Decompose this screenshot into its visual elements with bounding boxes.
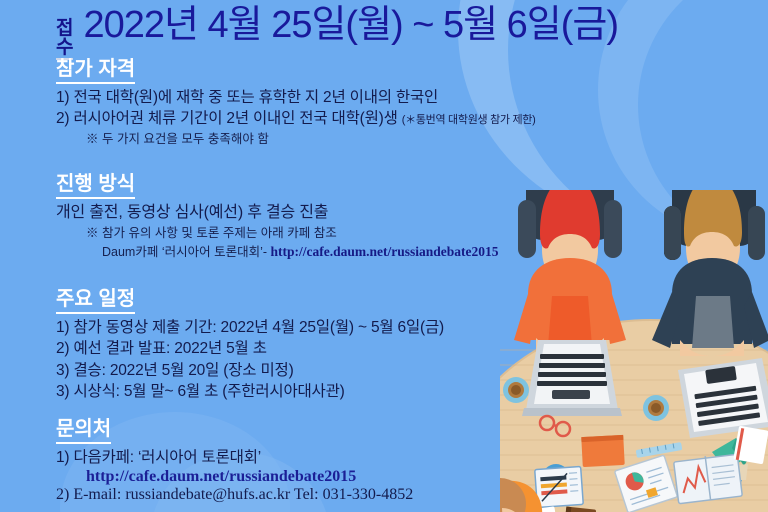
- schedule-line-4: 3) 시상식: 5월 말~ 6월 초 (주한러시아대사관): [56, 381, 444, 402]
- section-heading-method: 진행 방식: [56, 173, 135, 199]
- method-cafe-url[interactable]: http://cafe.daum.net/russiandebate2015: [271, 244, 499, 259]
- section-heading-schedule: 주요 일정: [56, 288, 135, 314]
- poster-content: 접수 2022년 4월 25일(월) ~ 5월 6일(금) 참가 자격 1) 전…: [0, 0, 560, 63]
- desk-meeting-illustration: BUSINESS: [500, 190, 768, 512]
- section-qualification: 참가 자격 1) 전국 대학(원)에 재학 중 또는 휴학한 지 2년 이내의 …: [0, 58, 536, 148]
- qualification-note: ※ 두 가지 요건을 모두 충족해야 함: [56, 130, 536, 148]
- method-cafe-label: Daum카페 ‘러시아어 토론대회’-: [102, 245, 267, 259]
- contact-cafe-url[interactable]: http://cafe.daum.net/russiandebate2015: [86, 468, 356, 485]
- qualification-line-2-wrap: 2) 러시아어권 체류 기간이 2년 이내인 전국 대학(원)생 (＊통번역 대…: [56, 108, 536, 129]
- poster-canvas: BUSINESS: [0, 0, 768, 512]
- schedule-line-2: 2) 예선 결과 발표: 2022년 5월 초: [56, 338, 444, 359]
- method-line-1: 개인 출전, 동영상 심사(예선) 후 결승 진출: [56, 202, 499, 224]
- page-title: 2022년 4월 25일(월) ~ 5월 6일(금): [83, 6, 618, 46]
- contact-url-row: http://cafe.daum.net/russiandebate2015: [56, 468, 413, 486]
- section-heading-contact: 문의처: [56, 418, 111, 444]
- contact-email-line: 2) E-mail: russiandebate@hufs.ac.kr Tel:…: [56, 486, 413, 504]
- schedule-line-3: 3) 결승: 2022년 5월 20일 (장소 미정): [56, 360, 444, 381]
- qualification-line-1: 1) 전국 대학(원)에 재학 중 또는 휴학한 지 2년 이내의 한국인: [56, 87, 536, 108]
- qualification-line-2: 2) 러시아어권 체류 기간이 2년 이내인 전국 대학(원)생: [56, 110, 398, 127]
- section-method: 진행 방식 개인 출전, 동영상 심사(예선) 후 결승 진출 ※ 참가 유의 …: [0, 173, 499, 262]
- registration-badge: 접수: [56, 19, 73, 60]
- qualification-inline-note: (＊통번역 대학원생 참가 제한): [402, 114, 536, 126]
- method-cafe-row: Daum카페 ‘러시아어 토론대회’- http://cafe.daum.net…: [56, 242, 499, 262]
- method-note: ※ 참가 유의 사항 및 토론 주제는 아래 카페 참조: [56, 224, 499, 242]
- section-schedule: 주요 일정 1) 참가 동영상 제출 기간: 2022년 4월 25일(월) ~…: [0, 288, 444, 403]
- section-heading-qualification: 참가 자격: [56, 58, 135, 84]
- section-contact: 문의처 1) 다음카페: ‘러시아어 토론대회’ http://cafe.dau…: [0, 418, 413, 504]
- schedule-line-1: 1) 참가 동영상 제출 기간: 2022년 4월 25일(월) ~ 5월 6일…: [56, 317, 444, 338]
- poster-header: 접수 2022년 4월 25일(월) ~ 5월 6일(금): [0, 0, 560, 63]
- contact-line-1: 1) 다음카페: ‘러시아어 토론대회’: [56, 447, 413, 468]
